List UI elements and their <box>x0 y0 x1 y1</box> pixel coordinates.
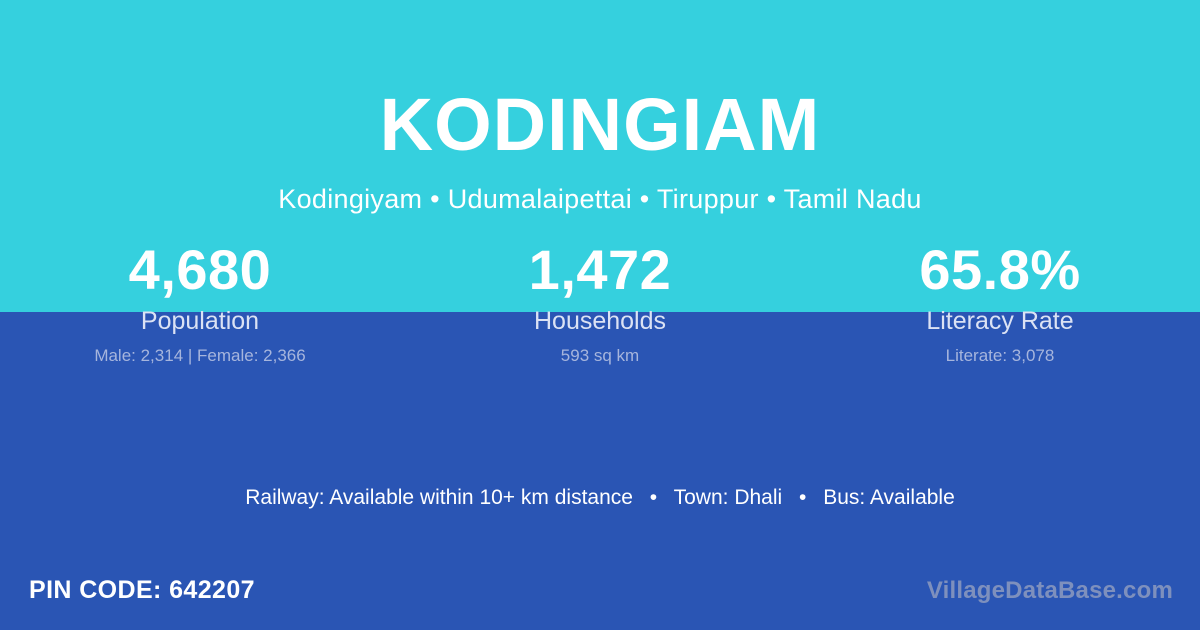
stat-label-households: Households <box>400 305 800 337</box>
bullet-separator-icon: • <box>639 483 668 513</box>
village-info-card: KODINGIAM Kodingiyam • Udumalaipettai • … <box>0 0 1200 630</box>
stat-label-literacy-rate: Literacy Rate <box>800 305 1200 337</box>
stat-population: 4,680 Population Male: 2,314 | Female: 2… <box>0 236 400 368</box>
stat-label-population: Population <box>0 305 400 337</box>
amenity-railway: Railway: Available within 10+ km distanc… <box>245 486 633 509</box>
stat-households: 1,472 Households 593 sq km <box>400 236 800 368</box>
breadcrumb: Kodingiyam • Udumalaipettai • Tiruppur •… <box>0 181 1200 217</box>
amenity-bus: Bus: Available <box>823 486 955 509</box>
site-watermark: VillageDataBase.com <box>927 572 1173 610</box>
page-title: KODINGIAM <box>0 82 1200 168</box>
card-footer: PIN CODE: 642207 VillageDataBase.com <box>0 570 1200 616</box>
stat-value-literacy-rate: 65.8% <box>800 236 1200 304</box>
stat-literacy: 65.8% Literacy Rate Literate: 3,078 <box>800 236 1200 368</box>
stat-detail-area: 593 sq km <box>400 344 800 368</box>
stat-value-households: 1,472 <box>400 236 800 304</box>
amenities-line: Railway: Available within 10+ km distanc… <box>0 483 1200 513</box>
stat-value-population: 4,680 <box>0 236 400 304</box>
stats-row: 4,680 Population Male: 2,314 | Female: 2… <box>0 236 1200 368</box>
stat-detail-population: Male: 2,314 | Female: 2,366 <box>0 344 400 368</box>
amenity-town: Town: Dhali <box>674 486 783 509</box>
bullet-separator-icon: • <box>788 483 817 513</box>
pin-code: PIN CODE: 642207 <box>29 570 255 610</box>
stat-detail-literate: Literate: 3,078 <box>800 344 1200 368</box>
